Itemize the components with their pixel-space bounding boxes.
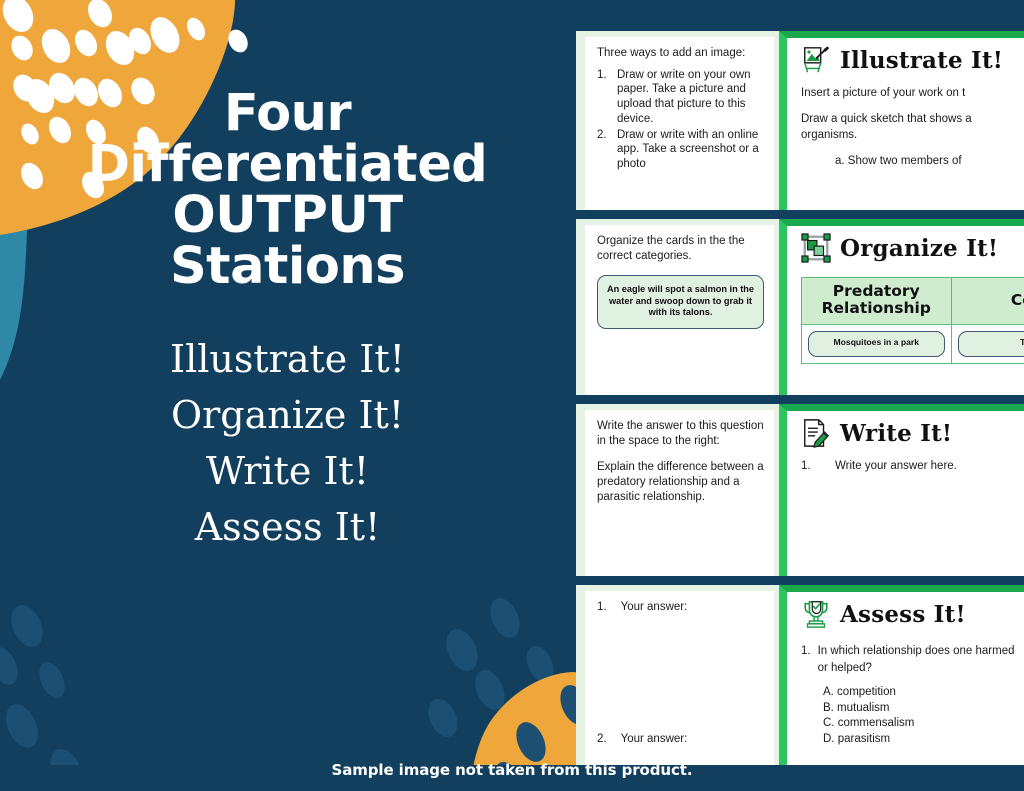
assess-answer-row-1: 1. Your answer: xyxy=(597,600,764,615)
station-organize-it: Organize It! xyxy=(53,388,523,444)
write-slide-pane: Write It! 1. Write your answer here. xyxy=(779,404,1024,576)
write-item-number: 1. xyxy=(801,458,827,475)
slide-card-assess-it[interactable]: 1. Your answer: 2. Your answer: xyxy=(576,585,1024,765)
trophy-check-icon xyxy=(801,599,831,629)
list-item: 1.Draw or write on your own paper. Take … xyxy=(597,68,764,127)
organize-sort-card[interactable]: An eagle will spot a salmon in the water… xyxy=(597,275,764,329)
table-header-predatory: Predatory Relationship xyxy=(802,278,952,325)
assess-card-body: 1. In which relationship does one harmed… xyxy=(787,629,1024,747)
sort-card-1[interactable]: Mosquitoes in a park xyxy=(808,331,945,357)
table-cell-predatory[interactable]: Mosquitoes in a park xyxy=(802,324,952,363)
write-instructions-pane: Write the answer to this question in the… xyxy=(576,404,779,576)
write-card-title: Write It! xyxy=(840,420,952,447)
slide-card-organize-it[interactable]: Organize the cards in the the correct ca… xyxy=(576,219,1024,395)
illustrate-left-intro: Three ways to add an image: xyxy=(597,46,764,61)
illustrate-left-item-2: Draw or write with an online app. Take a… xyxy=(617,128,764,172)
title-line-1: Four xyxy=(53,88,523,139)
slide-preview-column: Three ways to add an image: 1.Draw or wr… xyxy=(576,0,1024,791)
assess-answer-2-number: 2. xyxy=(597,732,607,747)
slide-card-illustrate-it[interactable]: Three ways to add an image: 1.Draw or wr… xyxy=(576,31,1024,210)
table-header-competitive: Cor xyxy=(951,278,1024,325)
table-header-row: Predatory Relationship Cor xyxy=(802,278,1024,325)
sample-image-disclaimer: Sample image not taken from this product… xyxy=(0,761,1024,779)
write-left-question: Explain the difference between a predato… xyxy=(597,460,764,504)
table-row: Mosquitoes in a park Tw xyxy=(802,324,1024,363)
poster-canvas: Four Differentiated OUTPUT Stations Illu… xyxy=(0,0,1024,791)
left-panel: Four Differentiated OUTPUT Stations Illu… xyxy=(0,0,575,765)
write-answer-list: 1. Write your answer here. xyxy=(801,458,1024,475)
station-list: Illustrate It! Organize It! Write It! As… xyxy=(53,332,523,555)
assess-answers-pane: 1. Your answer: 2. Your answer: xyxy=(576,585,779,765)
illustrate-paragraph-2: Draw a quick sketch that shows a organis… xyxy=(801,111,1024,144)
title-line-2: Differentiated xyxy=(53,139,523,190)
organize-squares-icon xyxy=(801,233,831,263)
write-left-intro: Write the answer to this question in the… xyxy=(597,419,764,448)
list-item: 1. Write your answer here. xyxy=(801,458,1024,475)
list-item: 2.Draw or write with an online app. Take… xyxy=(597,128,764,172)
table-cell-competitive[interactable]: Tw xyxy=(951,324,1024,363)
document-pencil-icon xyxy=(801,418,831,448)
assess-choice-d[interactable]: D. parasitism xyxy=(823,732,1024,748)
organize-card-title: Organize It! xyxy=(840,235,998,262)
write-item-text[interactable]: Write your answer here. xyxy=(835,458,957,475)
organize-instructions-pane: Organize the cards in the the correct ca… xyxy=(576,219,779,395)
assess-choice-c[interactable]: C. commensalism xyxy=(823,716,1024,732)
station-illustrate-it: Illustrate It! xyxy=(53,332,523,388)
station-write-it: Write It! xyxy=(53,444,523,500)
station-assess-it: Assess It! xyxy=(53,500,523,556)
illustrate-left-list: 1.Draw or write on your own paper. Take … xyxy=(597,68,764,172)
illustrate-instructions-pane: Three ways to add an image: 1.Draw or wr… xyxy=(576,31,779,210)
assess-answer-1-label[interactable]: Your answer: xyxy=(621,600,688,615)
assess-card-title: Assess It! xyxy=(840,601,966,628)
illustrate-left-item-1: Draw or write on your own paper. Take a … xyxy=(617,68,764,127)
assess-question-number: 1. xyxy=(801,643,811,676)
assess-answer-1-number: 1. xyxy=(597,600,607,615)
organize-left-intro: Organize the cards in the the correct ca… xyxy=(597,234,764,263)
organize-slide-pane: Organize It! Predatory Relationship Cor … xyxy=(779,219,1024,395)
assess-question-text: In which relationship does one harmed or… xyxy=(818,643,1024,676)
slide-card-write-it[interactable]: Write the answer to this question in the… xyxy=(576,404,1024,576)
illustrate-paragraph-1: Insert a picture of your work on t xyxy=(801,85,1024,102)
illustrate-slide-pane: Illustrate It! Insert a picture of your … xyxy=(779,31,1024,210)
organize-category-table: Predatory Relationship Cor Mosquitoes in… xyxy=(801,277,1024,364)
easel-paintbrush-icon xyxy=(801,45,831,75)
assess-choice-b[interactable]: B. mutualism xyxy=(823,701,1024,717)
illustrate-sub-item: a. Show two members of xyxy=(801,153,1024,170)
illustrate-card-body: Insert a picture of your work on t Draw … xyxy=(787,75,1024,170)
assess-choice-list: A. competition B. mutualism C. commensal… xyxy=(801,685,1024,747)
write-card-body: 1. Write your answer here. xyxy=(787,448,1024,475)
assess-choice-a[interactable]: A. competition xyxy=(823,685,1024,701)
assess-slide-pane: Assess It! 1. In which relationship does… xyxy=(779,585,1024,765)
page-title: Four Differentiated OUTPUT Stations xyxy=(53,88,523,292)
assess-answer-row-2: 2. Your answer: xyxy=(597,732,764,747)
assess-answer-2-label[interactable]: Your answer: xyxy=(621,732,688,747)
title-line-4: Stations xyxy=(53,241,523,292)
title-line-3: OUTPUT xyxy=(53,190,523,241)
illustrate-card-title: Illustrate It! xyxy=(840,47,1003,74)
sort-card-2[interactable]: Tw xyxy=(958,331,1024,357)
